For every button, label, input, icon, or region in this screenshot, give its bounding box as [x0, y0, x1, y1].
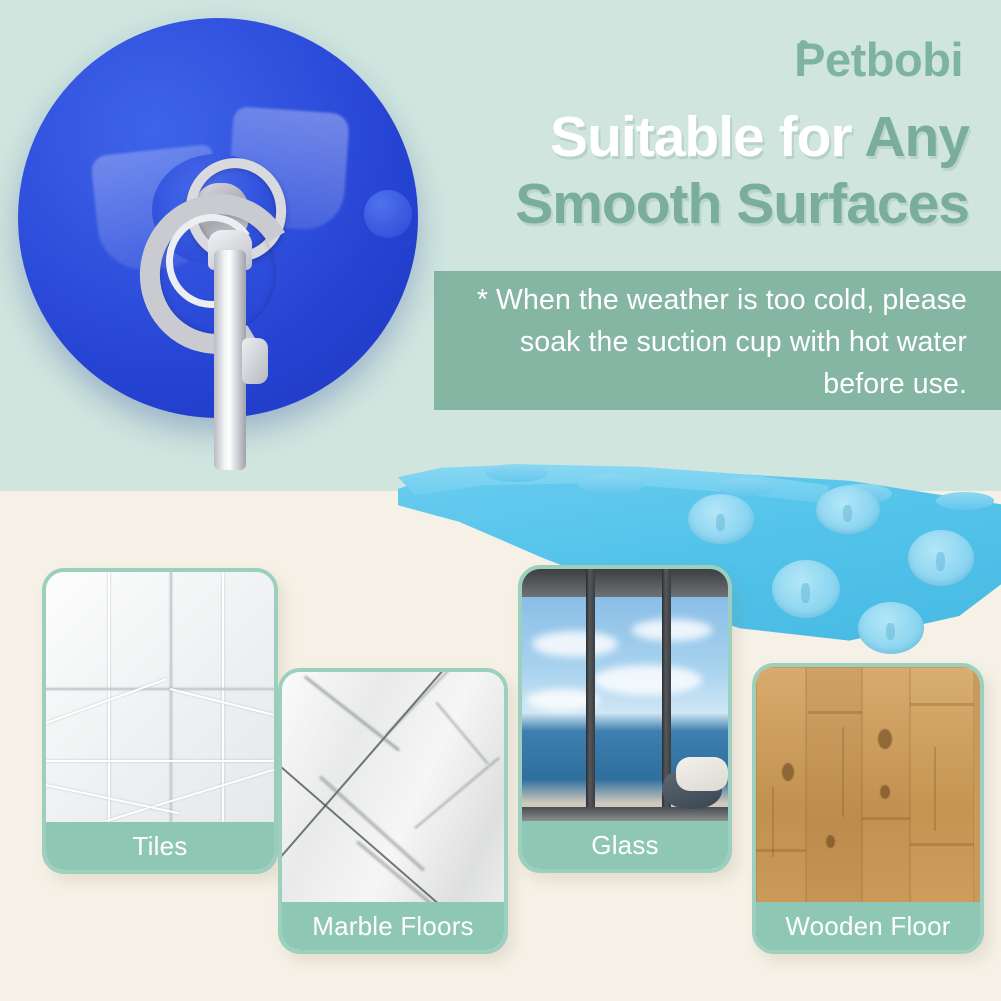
- glass-room-cushion: [676, 757, 728, 791]
- mat-suction-cup-1: [688, 494, 754, 544]
- surface-card-marble[interactable]: Marble Floors: [278, 668, 508, 954]
- mat-suction-cup-edge-1: [486, 464, 548, 482]
- card-label-glass: Glass: [522, 821, 728, 869]
- mat-suction-cup-edge-5: [936, 492, 994, 510]
- brand-logo-text: Petbobi: [794, 36, 963, 83]
- glass-door-sill: [522, 807, 728, 821]
- surface-card-glass[interactable]: Glass: [518, 565, 732, 873]
- mat-suction-cup-5: [858, 602, 924, 654]
- headline-line2: Smooth Surfaces: [515, 172, 969, 236]
- hero-suction-cup-image: [18, 18, 438, 470]
- card-label-tiles: Tiles: [46, 822, 274, 870]
- card-label-marble: Marble Floors: [282, 902, 504, 950]
- page-title: Suitable for Any Smooth Surfaces: [409, 104, 969, 237]
- mat-suction-cup-4: [908, 530, 974, 586]
- mat-suction-cup-2: [816, 486, 880, 534]
- headline-line1-green: Any: [864, 105, 969, 169]
- surface-card-wooden[interactable]: Wooden Floor: [752, 663, 984, 954]
- card-label-wooden: Wooden Floor: [756, 902, 980, 950]
- carabiner-latch: [242, 338, 268, 384]
- poster-canvas: Petbobi Suitable for Any Smooth Surfaces…: [0, 0, 1001, 1001]
- surface-card-tiles[interactable]: Tiles: [42, 568, 278, 874]
- care-note-text: * When the weather is too cold, please s…: [447, 280, 967, 406]
- mat-suction-cup-edge-2: [578, 474, 644, 494]
- glass-door-header: [522, 569, 728, 597]
- mat-suction-cup-3: [772, 560, 840, 618]
- headline-line1-white: Suitable for: [550, 105, 852, 169]
